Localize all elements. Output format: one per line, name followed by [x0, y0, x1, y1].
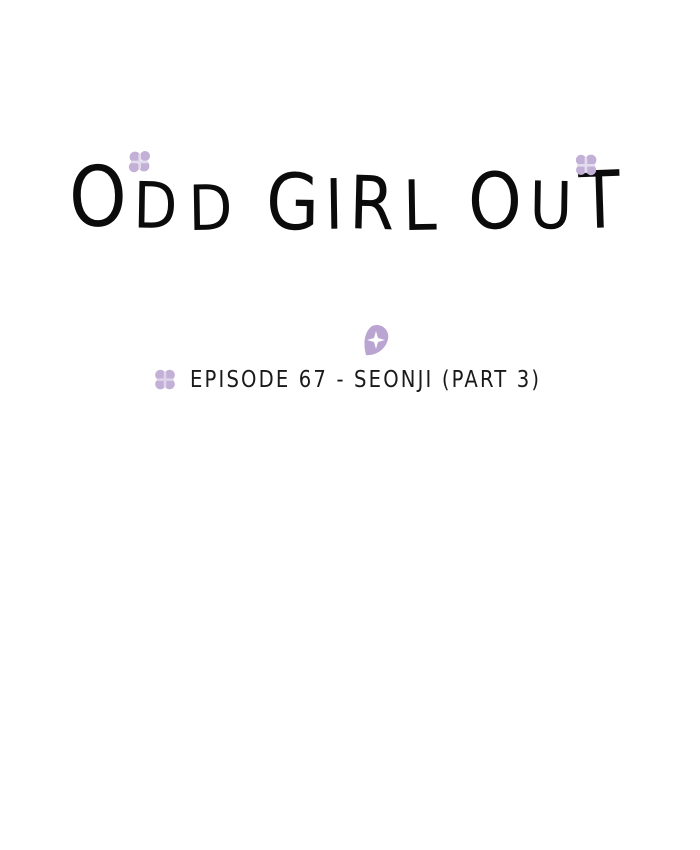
title-letter: L — [402, 150, 444, 263]
episode-subtitle: EPISODE 67 - SEONJI (PART 3) — [190, 365, 541, 392]
title-card-page: ODDGIRLOUT — [0, 0, 700, 850]
title-letter: D — [132, 154, 184, 258]
petal-sparkle-icon — [361, 324, 391, 357]
title-letter: R — [349, 144, 404, 264]
title-block: ODDGIRLOUT — [0, 148, 700, 258]
title-letter: G — [265, 140, 328, 267]
title-letter: O — [67, 129, 136, 265]
title-letter: U — [529, 153, 580, 259]
title-letter: T — [577, 136, 630, 265]
subtitle-block: EPISODE 67 - SEONJI (PART 3) — [0, 362, 700, 396]
title-letter: I — [324, 149, 350, 261]
title-letter: D — [188, 158, 240, 260]
clover-icon — [152, 367, 178, 393]
title-letter: O — [467, 138, 530, 265]
page-title: ODDGIRLOUT — [0, 148, 700, 260]
